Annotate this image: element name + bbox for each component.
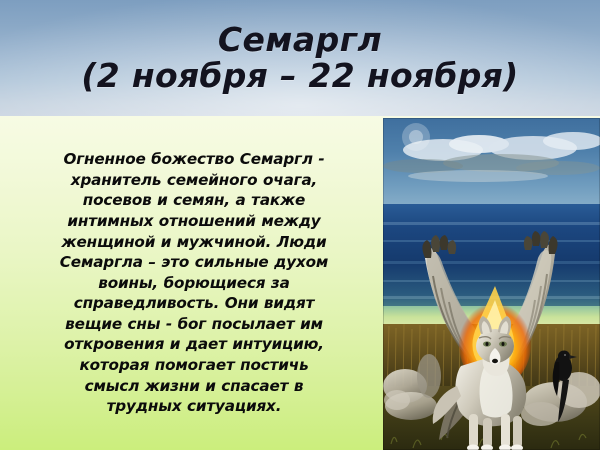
- description-block: Огненное божество Семаргл -хранитель сем…: [8, 122, 380, 444]
- description-text: Огненное божество Семаргл -хранитель сем…: [60, 149, 328, 417]
- slide-header: Семаргл (2 ноября – 22 ноября): [0, 0, 600, 116]
- slide-root: Семаргл (2 ноября – 22 ноября) Огненное …: [0, 0, 600, 450]
- wolf-leg-rr: [513, 416, 522, 448]
- wolf-leg-fr: [501, 414, 510, 448]
- page-title: Семаргл: [218, 23, 382, 57]
- wolf-leg-rl: [483, 418, 492, 448]
- raven-head: [558, 351, 570, 362]
- page-subtitle: (2 ноября – 22 ноября): [81, 59, 518, 93]
- title-block: Семаргл (2 ноября – 22 ноября): [0, 0, 600, 116]
- semargl-illustration: [383, 118, 600, 450]
- semargl-illustration-svg: [383, 118, 600, 450]
- wolf-nose: [492, 359, 498, 363]
- wolf-leg-fl: [469, 414, 478, 448]
